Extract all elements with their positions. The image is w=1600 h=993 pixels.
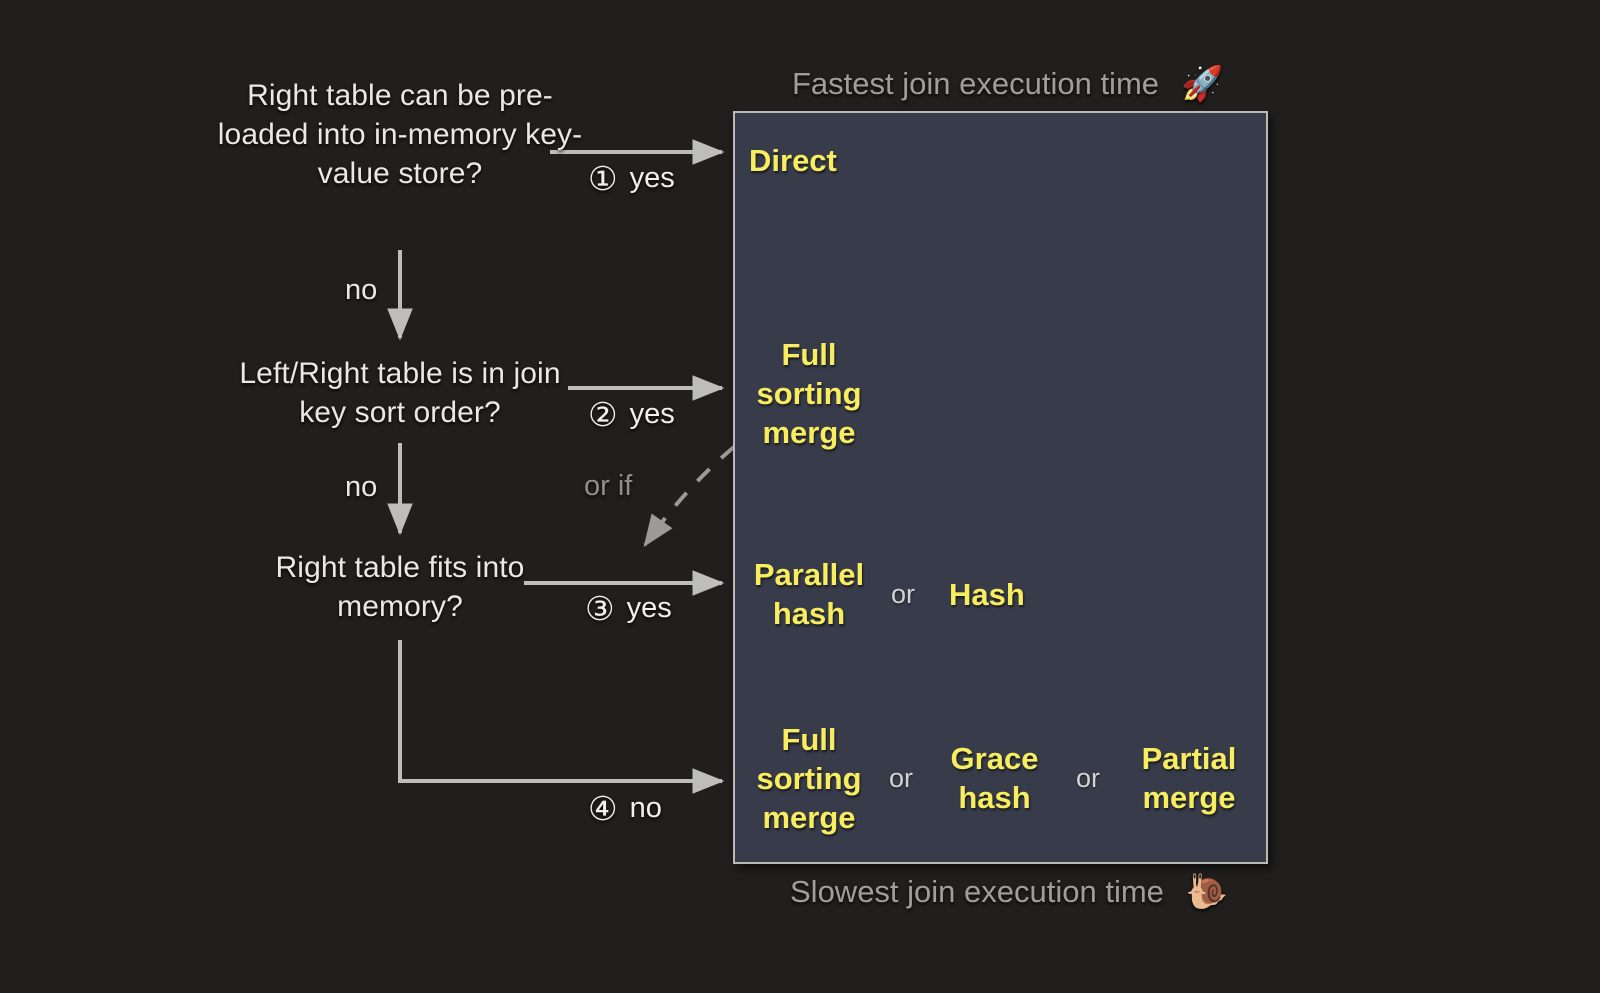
circled-number-2-icon: ② xyxy=(588,398,618,431)
algorithm-label: Full sorting merge xyxy=(743,720,875,837)
arrow-or-if-dashed xyxy=(645,447,734,545)
caption-fastest: Fastest join execution time 🚀 xyxy=(792,64,1223,104)
circled-number-4-icon: ④ xyxy=(588,792,618,825)
snail-emoji: 🐌 xyxy=(1186,872,1228,912)
or-separator: or xyxy=(1062,763,1114,794)
result-row: Full sorting merge or Grace hash or Part… xyxy=(735,713,1266,843)
arrow-no-3 xyxy=(400,640,722,781)
or-separator: or xyxy=(875,763,927,794)
results-panel: Direct Full sorting merge Parallel hash … xyxy=(733,111,1268,864)
result-row: Direct xyxy=(735,132,1266,188)
caption-slowest: Slowest join execution time 🐌 xyxy=(790,872,1228,912)
or-separator: or xyxy=(875,579,931,610)
decision-question-3: Right table fits into memory? xyxy=(215,548,585,626)
algorithm-label: Hash xyxy=(931,575,1099,614)
branch-label-3: ③ yes xyxy=(585,592,672,625)
branch-answer-3: yes xyxy=(627,592,672,625)
algorithm-label: Partial merge xyxy=(1114,739,1264,817)
algorithm-label: Grace hash xyxy=(927,739,1062,817)
branch-answer-1: yes xyxy=(630,162,675,195)
circled-number-3-icon: ③ xyxy=(585,592,615,625)
rocket-emoji: 🚀 xyxy=(1181,64,1223,104)
result-row: Parallel hash or Hash xyxy=(735,548,1266,640)
branch-label-1: ① yes xyxy=(588,162,675,195)
algorithm-label: Full sorting merge xyxy=(743,335,875,452)
edge-label-no-1: no xyxy=(345,274,377,307)
circled-number-1-icon: ① xyxy=(588,162,618,195)
algorithm-label: Direct xyxy=(743,141,869,180)
branch-answer-2: yes xyxy=(630,398,675,431)
branch-label-2: ② yes xyxy=(588,398,675,431)
branch-answer-4: no xyxy=(630,792,662,825)
caption-slowest-text: Slowest join execution time xyxy=(790,874,1164,910)
decision-question-1: Right table can be pre-loaded into in-me… xyxy=(215,76,585,193)
edge-label-no-2: no xyxy=(345,471,377,504)
caption-fastest-text: Fastest join execution time xyxy=(792,66,1159,102)
branch-label-4: ④ no xyxy=(588,792,662,825)
decision-question-2: Left/Right table is in join key sort ord… xyxy=(215,354,585,432)
flowchart-canvas: Right table can be pre-loaded into in-me… xyxy=(0,0,1600,993)
or-if-note: or if xyxy=(584,470,632,503)
algorithm-label: Parallel hash xyxy=(743,555,875,633)
result-row: Full sorting merge xyxy=(735,328,1266,458)
